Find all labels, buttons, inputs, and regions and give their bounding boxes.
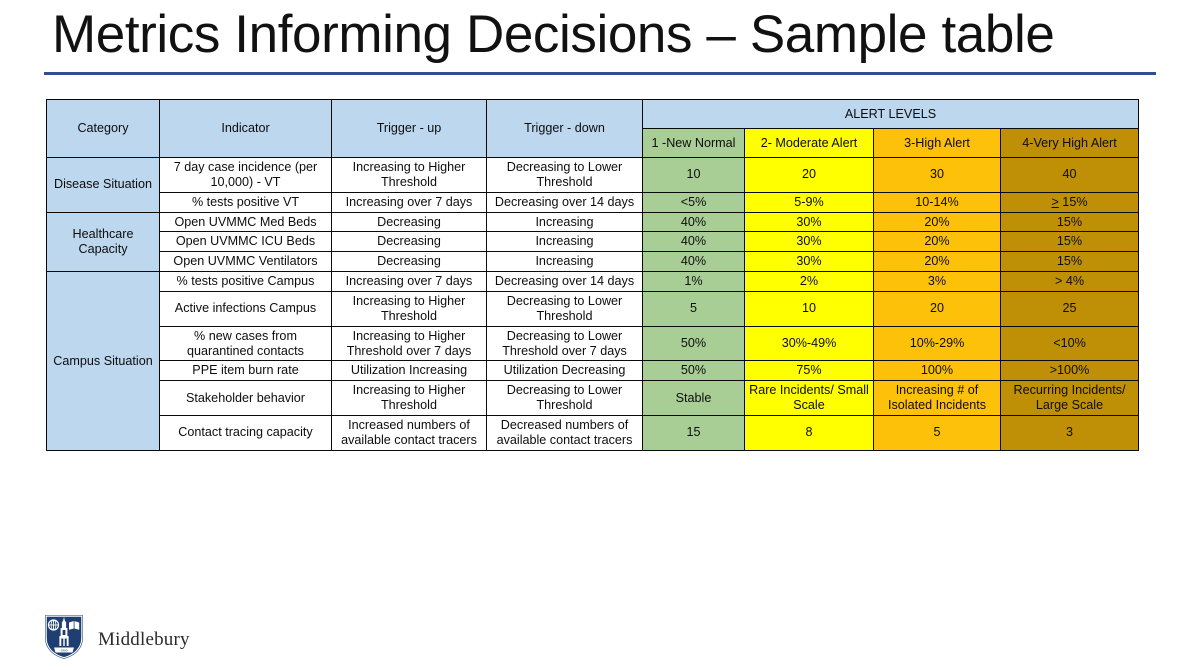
trigger-down-cell: Decreased numbers of available contact t… <box>487 416 643 451</box>
column-header-category: Category <box>47 100 160 158</box>
level-4-cell: <10% <box>1001 326 1139 361</box>
level-2-cell: Rare Incidents/ Small Scale <box>745 381 874 416</box>
level-1-cell: Stable <box>643 381 745 416</box>
level-2-cell: 75% <box>745 361 874 381</box>
table-row: % new cases from quarantined contactsInc… <box>47 326 1139 361</box>
trigger-up-cell: Increasing over 7 days <box>332 192 487 212</box>
level-3-cell: 3% <box>874 272 1001 292</box>
level-1-cell: 5 <box>643 292 745 327</box>
column-header-indicator: Indicator <box>160 100 332 158</box>
indicator-cell: Contact tracing capacity <box>160 416 332 451</box>
trigger-down-cell: Decreasing to Lower Threshold over 7 day… <box>487 326 643 361</box>
indicator-cell: Open UVMMC Ventilators <box>160 252 332 272</box>
trigger-down-cell: Decreasing to Lower Threshold <box>487 158 643 193</box>
page-title: Metrics Informing Decisions – Sample tab… <box>52 4 1054 65</box>
category-cell: Disease Situation <box>47 158 160 213</box>
trigger-up-cell: Increasing over 7 days <box>332 272 487 292</box>
indicator-cell: Stakeholder behavior <box>160 381 332 416</box>
level-4-cell: 3 <box>1001 416 1139 451</box>
level-3-cell: 5 <box>874 416 1001 451</box>
indicator-cell: Active infections Campus <box>160 292 332 327</box>
table-row: % tests positive VTIncreasing over 7 day… <box>47 192 1139 212</box>
indicator-cell: % tests positive VT <box>160 192 332 212</box>
trigger-up-cell: Increased numbers of available contact t… <box>332 416 487 451</box>
column-header-trigger-up: Trigger - up <box>332 100 487 158</box>
trigger-down-cell: Decreasing over 14 days <box>487 192 643 212</box>
level-4-cell: 15% <box>1001 212 1139 232</box>
trigger-up-cell: Decreasing <box>332 212 487 232</box>
level-1-cell: 40% <box>643 232 745 252</box>
trigger-up-cell: Increasing to Higher Threshold <box>332 158 487 193</box>
level-4-cell: 15% <box>1001 232 1139 252</box>
category-cell: Healthcare Capacity <box>47 212 160 272</box>
level-3-cell: Increasing # of Isolated Incidents <box>874 381 1001 416</box>
trigger-down-cell: Decreasing over 14 days <box>487 272 643 292</box>
table-header: Category Indicator Trigger - up Trigger … <box>47 100 1139 158</box>
level-2-cell: 2% <box>745 272 874 292</box>
greater-equal-symbol: > <box>1051 195 1058 209</box>
trigger-down-cell: Utilization Decreasing <box>487 361 643 381</box>
level-4-cell: > 4% <box>1001 272 1139 292</box>
metrics-table: Category Indicator Trigger - up Trigger … <box>46 99 1139 451</box>
table-row: Open UVMMC ICU BedsDecreasingIncreasing4… <box>47 232 1139 252</box>
level-1-cell: 50% <box>643 361 745 381</box>
level-1-cell: 10 <box>643 158 745 193</box>
logo-wordmark: Middlebury <box>98 629 190 651</box>
level-1-cell: 40% <box>643 212 745 232</box>
footer-logo: 1800 Middlebury <box>42 612 190 667</box>
title-divider <box>44 72 1156 75</box>
level-2-cell: 5-9% <box>745 192 874 212</box>
trigger-up-cell: Increasing to Higher Threshold over 7 da… <box>332 326 487 361</box>
level-3-cell: 20% <box>874 212 1001 232</box>
column-header-level-2: 2- Moderate Alert <box>745 129 874 158</box>
column-header-alert-levels: ALERT LEVELS <box>643 100 1139 129</box>
level-4-cell: > 15% <box>1001 192 1139 212</box>
indicator-cell: 7 day case incidence (per 10,000) - VT <box>160 158 332 193</box>
level-3-cell: 10%-29% <box>874 326 1001 361</box>
level-4-cell: 40 <box>1001 158 1139 193</box>
level-1-cell: 50% <box>643 326 745 361</box>
trigger-down-cell: Increasing <box>487 212 643 232</box>
table-row: Open UVMMC VentilatorsDecreasingIncreasi… <box>47 252 1139 272</box>
trigger-down-cell: Increasing <box>487 252 643 272</box>
table-row: Contact tracing capacityIncreased number… <box>47 416 1139 451</box>
column-header-level-4: 4-Very High Alert <box>1001 129 1139 158</box>
level-4-cell: Recurring Incidents/ Large Scale <box>1001 381 1139 416</box>
level-4-cell: >100% <box>1001 361 1139 381</box>
level-4-cell: 25 <box>1001 292 1139 327</box>
level-1-cell: 15 <box>643 416 745 451</box>
level-2-cell: 30% <box>745 212 874 232</box>
table-row: Campus Situation% tests positive CampusI… <box>47 272 1139 292</box>
trigger-down-cell: Increasing <box>487 232 643 252</box>
level-1-cell: <5% <box>643 192 745 212</box>
indicator-cell: Open UVMMC ICU Beds <box>160 232 332 252</box>
level-2-cell: 30% <box>745 232 874 252</box>
level-3-cell: 30 <box>874 158 1001 193</box>
category-cell: Campus Situation <box>47 272 160 451</box>
trigger-down-cell: Decreasing to Lower Threshold <box>487 292 643 327</box>
trigger-up-cell: Decreasing <box>332 252 487 272</box>
table-row: Disease Situation7 day case incidence (p… <box>47 158 1139 193</box>
level-3-cell: 10-14% <box>874 192 1001 212</box>
level-1-cell: 1% <box>643 272 745 292</box>
level-3-cell: 20% <box>874 252 1001 272</box>
table-row: Stakeholder behaviorIncreasing to Higher… <box>47 381 1139 416</box>
level-3-cell: 20% <box>874 232 1001 252</box>
level-2-cell: 30%-49% <box>745 326 874 361</box>
indicator-cell: % tests positive Campus <box>160 272 332 292</box>
indicator-cell: Open UVMMC Med Beds <box>160 212 332 232</box>
column-header-trigger-down: Trigger - down <box>487 100 643 158</box>
table-body: Disease Situation7 day case incidence (p… <box>47 158 1139 451</box>
svg-text:1800: 1800 <box>61 648 68 652</box>
trigger-up-cell: Utilization Increasing <box>332 361 487 381</box>
level-4-value: 15% <box>1059 195 1088 209</box>
trigger-up-cell: Decreasing <box>332 232 487 252</box>
level-2-cell: 30% <box>745 252 874 272</box>
column-header-level-3: 3-High Alert <box>874 129 1001 158</box>
level-3-cell: 20 <box>874 292 1001 327</box>
trigger-up-cell: Increasing to Higher Threshold <box>332 292 487 327</box>
level-2-cell: 20 <box>745 158 874 193</box>
level-2-cell: 10 <box>745 292 874 327</box>
column-header-level-1: 1 -New Normal <box>643 129 745 158</box>
level-4-cell: 15% <box>1001 252 1139 272</box>
level-2-cell: 8 <box>745 416 874 451</box>
middlebury-shield-icon: 1800 <box>42 612 86 667</box>
slide-title-area: Metrics Informing Decisions – Sample tab… <box>0 0 1200 82</box>
indicator-cell: PPE item burn rate <box>160 361 332 381</box>
table-row: PPE item burn rateUtilization Increasing… <box>47 361 1139 381</box>
trigger-up-cell: Increasing to Higher Threshold <box>332 381 487 416</box>
table-header-row-group: Category Indicator Trigger - up Trigger … <box>47 100 1139 129</box>
level-3-cell: 100% <box>874 361 1001 381</box>
table-row: Healthcare CapacityOpen UVMMC Med BedsDe… <box>47 212 1139 232</box>
trigger-down-cell: Decreasing to Lower Threshold <box>487 381 643 416</box>
table-row: Active infections CampusIncreasing to Hi… <box>47 292 1139 327</box>
indicator-cell: % new cases from quarantined contacts <box>160 326 332 361</box>
level-1-cell: 40% <box>643 252 745 272</box>
